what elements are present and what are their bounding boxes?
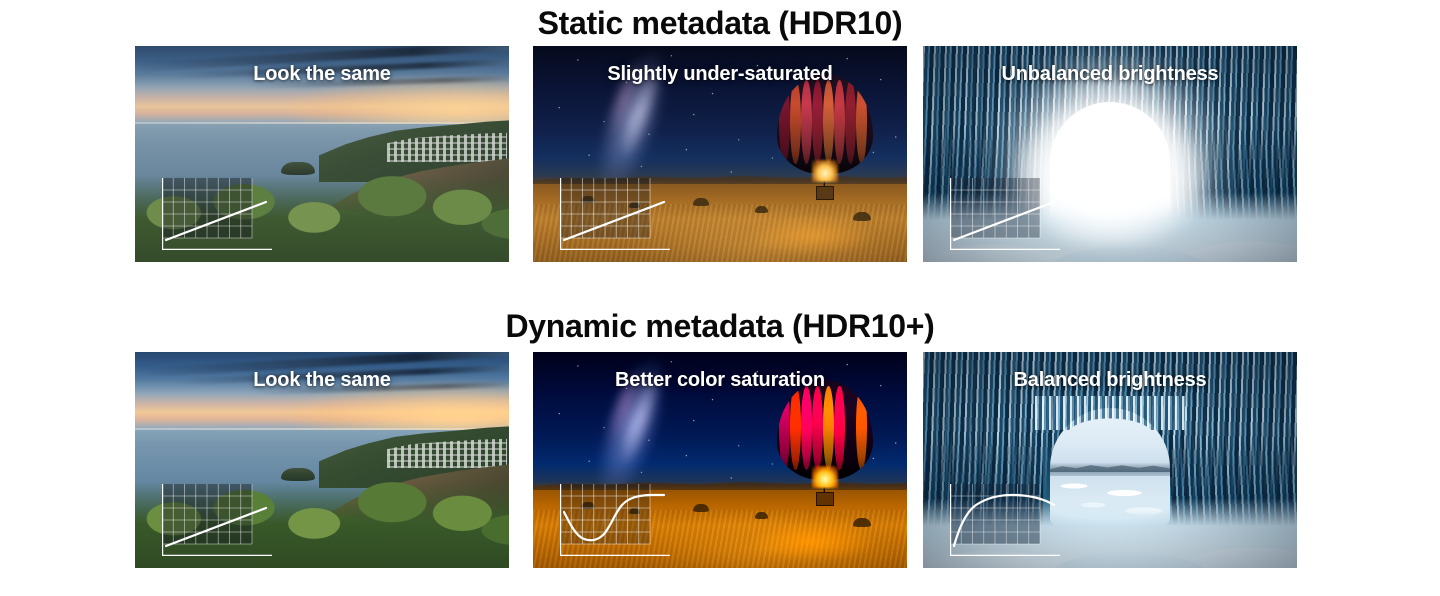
tone-curve-graph [560, 484, 670, 556]
section-dynamic-metadata: Dynamic metadata (HDR10+) Look the same [0, 300, 1440, 596]
panel-dynamic-balanced-brightness: Balanced brightness [923, 352, 1297, 568]
panel-dynamic-look-the-same: Look the same [135, 352, 509, 568]
tone-curve-svg [162, 178, 272, 250]
balloon-envelope [777, 74, 873, 174]
tone-curve-graph [950, 178, 1060, 250]
tone-curve-graph [162, 484, 272, 556]
tone-curve-graph [162, 178, 272, 250]
balloon-basket [816, 492, 834, 506]
tone-curve-svg [560, 484, 670, 556]
panel-static-under-saturated: Slightly under-saturated [533, 46, 907, 262]
section-title-dynamic: Dynamic metadata (HDR10+) [0, 300, 1440, 352]
rock-islet [281, 468, 315, 481]
balloon-ground-glow [747, 522, 877, 562]
tone-curve-graph [950, 484, 1060, 556]
desert-bush [693, 504, 709, 512]
panel-static-unbalanced-brightness: Unbalanced brightness [923, 46, 1297, 262]
balloon-basket [816, 186, 834, 200]
tone-curve-svg [950, 484, 1060, 556]
desert-bush [693, 198, 709, 206]
tone-curve-svg [560, 178, 670, 250]
desert-bush [755, 206, 768, 213]
balloon-ground-glow [747, 216, 877, 256]
balloon-envelope [777, 380, 873, 480]
balloon-burner-flame [812, 160, 838, 182]
tone-curve-svg [950, 178, 1060, 250]
desert-bush [755, 512, 768, 519]
hot-air-balloon [777, 74, 873, 214]
rock-islet [281, 162, 315, 175]
tone-curve-svg [162, 484, 272, 556]
panel-dynamic-better-color-saturation: Better color saturation [533, 352, 907, 568]
tone-curve-graph [560, 178, 670, 250]
balloon-shading [777, 380, 873, 480]
panel-static-look-the-same: Look the same [135, 46, 509, 262]
balloon-shading [777, 74, 873, 174]
panel-row-dynamic: Look the same [135, 352, 1305, 568]
section-title-static: Static metadata (HDR10) [0, 0, 1440, 46]
panel-row-static: Look the same [135, 46, 1305, 262]
hot-air-balloon [777, 380, 873, 520]
section-static-metadata: Static metadata (HDR10) Look the same [0, 0, 1440, 296]
balloon-burner-flame [812, 466, 838, 488]
